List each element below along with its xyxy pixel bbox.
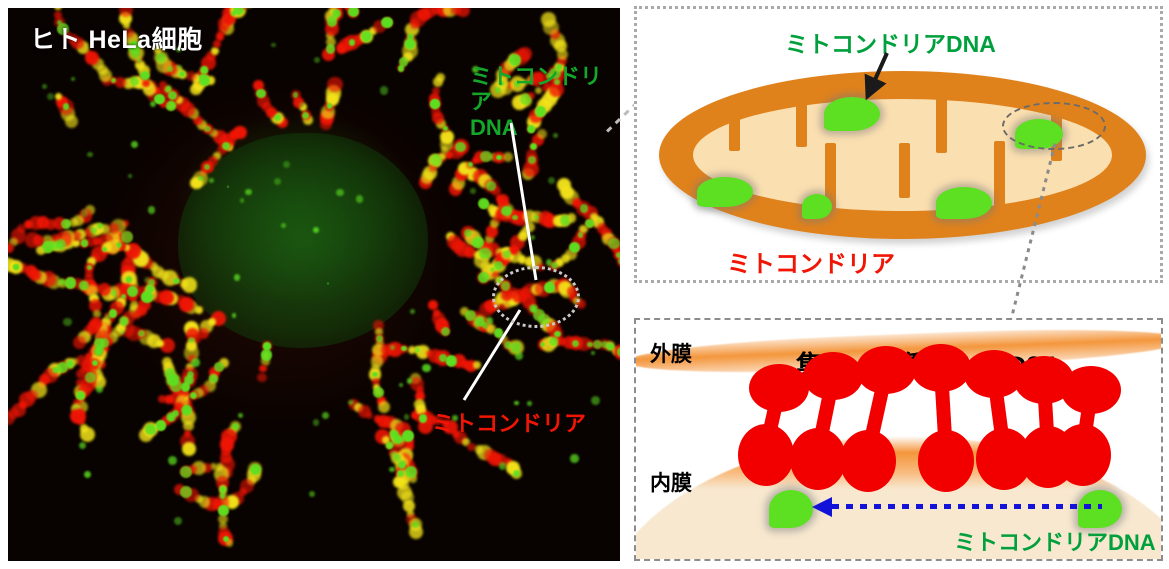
- micrograph-dna-label: ミトコンドリア DNA: [470, 64, 620, 140]
- micrograph-mitochondria-label: ミトコンドリア: [432, 406, 586, 438]
- nucleoid: [936, 187, 992, 219]
- crista: [994, 141, 1005, 211]
- nucleoid: [824, 97, 880, 131]
- micrograph-dna-label-line1: ミトコンドリア: [470, 64, 620, 115]
- panel-bottom-dna-label: ミトコンドリアDNA: [954, 525, 1156, 557]
- atad3a-diagram-panel: 外膜 内膜 集まって働くATAD3A ミトコンドリアDNA: [634, 318, 1163, 561]
- nucleoid: [802, 194, 832, 219]
- crista: [899, 143, 910, 198]
- crista: [796, 87, 807, 147]
- nucleoid-left: [769, 490, 813, 528]
- inner-membrane-label: 内膜: [650, 467, 692, 497]
- crista: [936, 91, 947, 153]
- dna-transfer-arrowhead: [812, 497, 832, 517]
- micrograph-highlight-circle: [492, 266, 580, 328]
- micrograph-panel: ヒト HeLa細胞 ミトコンドリア DNA ミトコンドリア: [8, 8, 620, 561]
- outer-membrane-label: 外膜: [650, 338, 692, 368]
- figure-root: ヒト HeLa細胞 ミトコンドリア DNA ミトコンドリア: [0, 0, 1169, 569]
- mitochondrion-outer-membrane: [659, 71, 1146, 239]
- panel-top-dna-label: ミトコンドリアDNA: [785, 25, 996, 59]
- micrograph-title: ヒト HeLa細胞: [30, 20, 203, 56]
- crista: [729, 99, 740, 151]
- mitochondrion-diagram-panel: ミトコンドリアDNA ミトコンドリア: [634, 6, 1163, 283]
- panel-top-mitochondria-label: ミトコンドリア: [727, 244, 895, 279]
- nucleoid-right: [1078, 490, 1122, 528]
- nucleoid: [697, 177, 753, 207]
- micrograph-dna-label-line2: DNA: [470, 115, 620, 140]
- dna-transfer-arrow: [832, 504, 1102, 509]
